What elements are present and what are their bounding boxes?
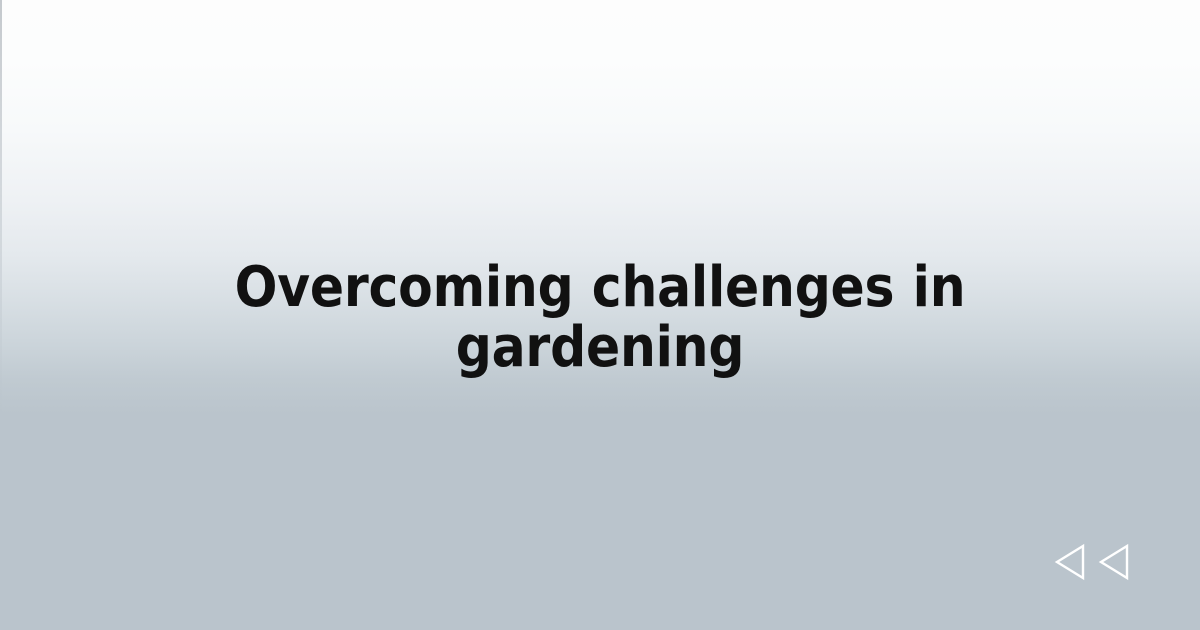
triangle-left-first-icon bbox=[1057, 546, 1083, 578]
slide-canvas: Overcoming challenges in gardening bbox=[0, 0, 1200, 630]
title-block: Overcoming challenges in gardening bbox=[0, 258, 1200, 378]
rewind-button[interactable] bbox=[1053, 541, 1133, 583]
page-title: Overcoming challenges in gardening bbox=[140, 258, 1060, 378]
triangle-left-second-icon bbox=[1101, 546, 1127, 578]
rewind-double-left-triangle-icon bbox=[1053, 541, 1133, 583]
